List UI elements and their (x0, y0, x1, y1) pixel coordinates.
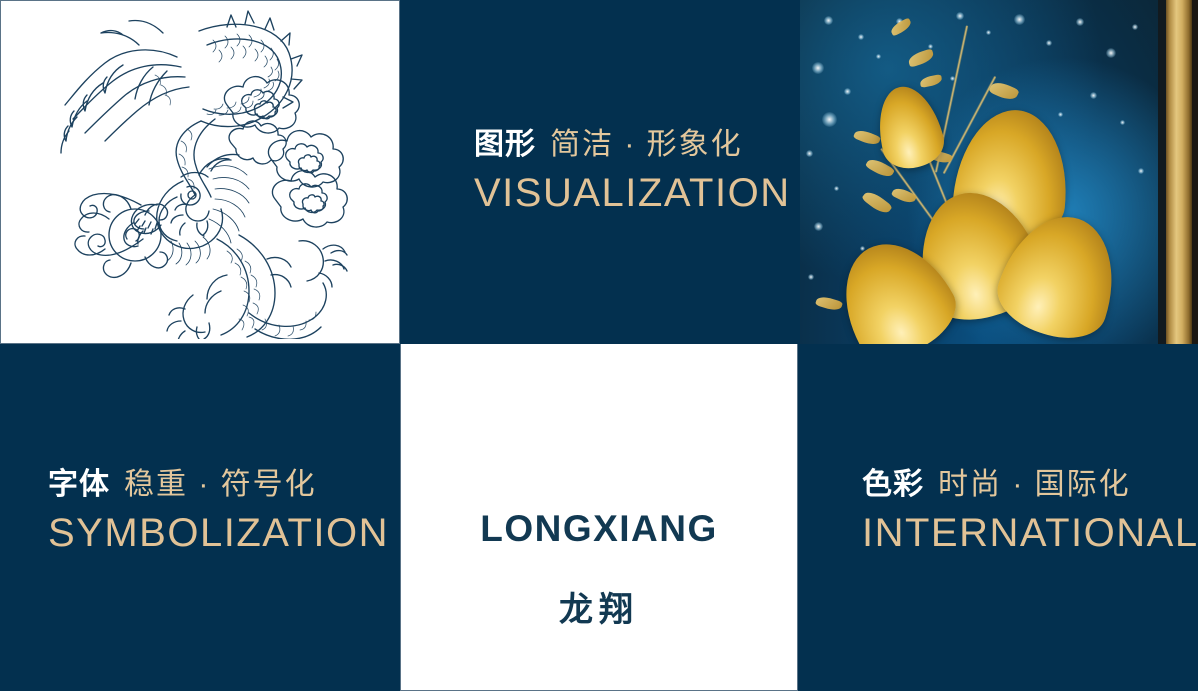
international-cn-key: 色彩 (862, 468, 924, 501)
chinese-dragon-icon (25, 9, 377, 339)
symbolization-english-label: SYMBOLIZATION (48, 513, 389, 553)
symbolization-cn-sub: 稳重 · 符号化 (124, 468, 317, 501)
brand-panel: LONGXIANG 龙翔 (400, 344, 798, 691)
international-text-block: 色彩时尚 · 国际化 INTERNATIONAL (862, 468, 1198, 553)
picture-frame-edge (1166, 0, 1192, 344)
visualization-text-block: 图形简洁 · 形象化 VISUALIZATION (474, 128, 791, 213)
visualization-cn-key: 图形 (474, 128, 536, 161)
international-english-label: INTERNATIONAL (862, 513, 1198, 553)
symbolization-chinese-line: 字体稳重 · 符号化 (48, 468, 389, 503)
mood-board-slide: 图形简洁 · 形象化 VISUALIZATION (0, 0, 1198, 691)
ginkgo-leaves-artwork (800, 0, 1166, 344)
visualization-panel: 图形简洁 · 形象化 VISUALIZATION (400, 0, 800, 344)
visualization-cn-sub: 简洁 · 形象化 (550, 128, 743, 161)
international-panel: 色彩时尚 · 国际化 INTERNATIONAL (798, 344, 1198, 691)
international-chinese-line: 色彩时尚 · 国际化 (862, 468, 1198, 503)
brand-english-name: LONGXIANG (401, 508, 797, 550)
dragon-illustration-panel (0, 0, 400, 344)
visualization-chinese-line: 图形简洁 · 形象化 (474, 128, 791, 163)
symbolization-panel: 字体稳重 · 符号化 SYMBOLIZATION (0, 344, 400, 691)
symbolization-cn-key: 字体 (48, 468, 110, 501)
symbolization-text-block: 字体稳重 · 符号化 SYMBOLIZATION (48, 468, 389, 553)
brand-chinese-name: 龙翔 (401, 582, 797, 631)
ginkgo-painting-panel (800, 0, 1198, 344)
international-cn-sub: 时尚 · 国际化 (938, 468, 1131, 501)
brand-block: LONGXIANG 龙翔 (401, 508, 797, 631)
frame-shadow (1158, 0, 1166, 344)
visualization-english-label: VISUALIZATION (474, 173, 791, 213)
frame-outer-dark-edge (1192, 0, 1198, 344)
